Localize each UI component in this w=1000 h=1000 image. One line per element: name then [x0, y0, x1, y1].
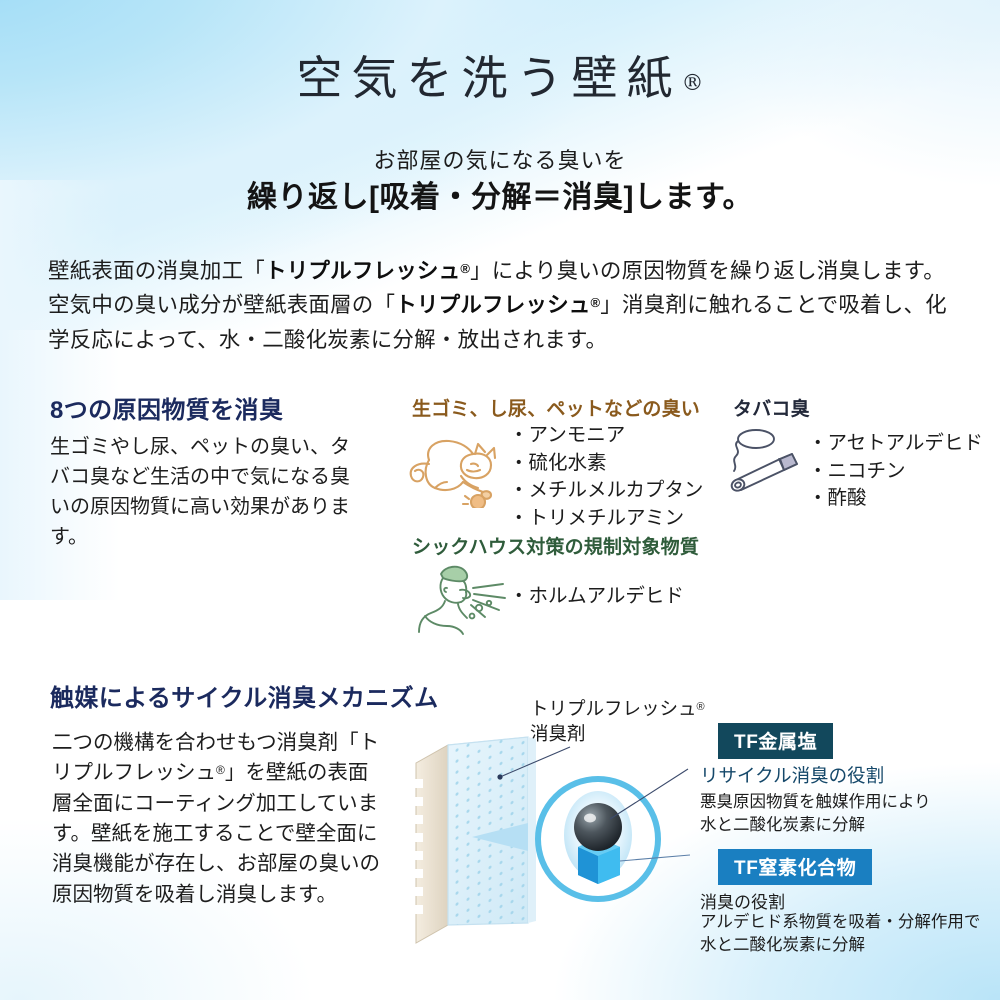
brand-name-1: トリプルフレッシュ®: [265, 259, 470, 283]
section2-body-part-1: 二つの機構を合わせもつ消臭剤「: [52, 731, 359, 754]
list-item: ・硫化水素: [509, 450, 703, 478]
odor-box-sickhouse-legend: シックハウス対策の規制対象物質: [405, 532, 706, 559]
subtitle-line-2: 繰り返し[吸着・分解＝消臭]します。: [0, 172, 1000, 216]
registered-mark-icon: ®: [216, 763, 225, 777]
odor-box-kitchen-legend: 生ゴミ、し尿、ペットなどの臭い: [405, 394, 707, 421]
odor-box-kitchen-items: ・アンモニア ・硫化水素 ・メチルメルカプタン ・トリメチルアミン: [509, 422, 703, 533]
odor-box-kitchen: 生ゴミ、し尿、ペットなどの臭い: [391, 408, 701, 523]
callout-title-nitrogen-compound: 消臭の役割: [700, 888, 785, 913]
callout-body-line: 悪臭原因物質を触媒作用により: [700, 791, 931, 814]
callout-body-nitrogen-compound: アルデヒド系物質を吸着・分解作用で 水と二酸化炭素に分解: [700, 911, 980, 958]
odor-box-sickhouse: シックハウス対策の規制対象物質: [391, 546, 701, 651]
coughing-person-icon: [403, 560, 511, 640]
registered-mark-icon: ®: [591, 295, 601, 310]
list-item: ・アンモニア: [509, 422, 703, 450]
badge-tf-nitrogen-compound: TF窒素化合物: [718, 849, 872, 885]
section1-heading: 8つの原因物質を消臭: [50, 390, 283, 425]
list-item: ・酢酸: [808, 485, 983, 513]
wallpaper-cross-section-diagram: [410, 735, 690, 975]
page-title-text: 空気を洗う壁紙: [297, 51, 682, 105]
odor-box-tobacco-legend: タバコ臭: [726, 394, 817, 421]
intro-paragraph: 壁紙表面の消臭加工「トリプルフレッシュ®」により臭いの原因物質を繰り返し消臭しま…: [48, 254, 956, 358]
cat-playing-icon: [399, 424, 507, 508]
brand-name-2-text: トリプルフレッシュ: [395, 293, 590, 317]
odor-box-sickhouse-items: ・ホルムアルデヒド: [509, 583, 684, 611]
callout-body-line: 水と二酸化炭素に分解: [700, 934, 980, 957]
cigarette-smoke-icon: [722, 428, 810, 504]
odor-box-tobacco-items: ・アセトアルデヒド ・ニコチン ・酢酸: [808, 430, 983, 513]
list-item: ・ホルムアルデヒド: [509, 583, 684, 611]
callout-body-line: アルデヒド系物質を吸着・分解作用で: [700, 911, 980, 934]
list-item: ・アセトアルデヒド: [808, 430, 983, 458]
brand-name-2: トリプルフレッシュ®: [395, 293, 600, 317]
badge-tf-metal-salt: TF金属塩: [718, 723, 833, 759]
section2-body-text: 二つの機構を合わせもつ消臭剤「トリプルフレッシュ®」を壁紙の表面層全面にコーティ…: [52, 728, 382, 910]
list-item: ・トリメチルアミン: [509, 505, 703, 533]
callout-title-metal-salt: リサイクル消臭の役割: [700, 762, 884, 788]
diagram-wall-label-line-1: トリプルフレッシュ: [530, 698, 697, 719]
registered-mark-icon: ®: [697, 701, 705, 713]
subtitle-line-1: お部屋の気になる臭いを: [0, 143, 1000, 175]
page-title: 空気を洗う壁紙®: [0, 42, 1000, 108]
tf-metal-salt-sphere: [574, 803, 622, 851]
intro-part-1: 壁紙表面の消臭加工「: [48, 259, 265, 283]
registered-mark-icon: ®: [460, 261, 470, 276]
brand-name-1-text: トリプルフレッシュ: [265, 259, 460, 283]
wall-backing-edge: [414, 745, 448, 943]
callout-body-metal-salt: 悪臭原因物質を触媒作用により 水と二酸化炭素に分解: [700, 791, 931, 838]
list-item: ・ニコチン: [808, 458, 983, 486]
section1-body-text: 生ゴミやし尿、ペットの臭い、タバコ臭など生活の中で気になる臭いの原因物質に高い効…: [50, 432, 350, 552]
infographic-page: 空気を洗う壁紙® お部屋の気になる臭いを 繰り返し[吸着・分解＝消臭]します。 …: [0, 0, 1000, 1000]
registered-mark-icon: ®: [682, 71, 704, 96]
section2-heading: 触媒によるサイクル消臭メカニズム: [50, 678, 438, 713]
odor-box-tobacco: タバコ臭 ・アセトアルデヒド ・ニコチン: [712, 408, 980, 523]
callout-body-line: 水と二酸化炭素に分解: [700, 814, 931, 837]
list-item: ・メチルメルカプタン: [509, 477, 703, 505]
